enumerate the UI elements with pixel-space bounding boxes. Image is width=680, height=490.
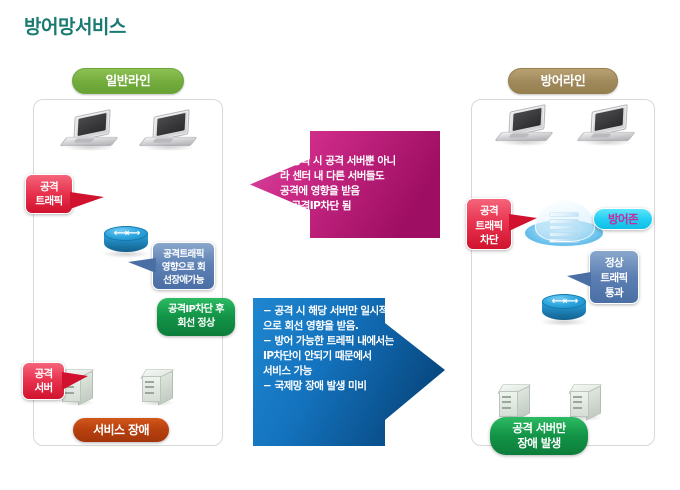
laptop-icon xyxy=(580,108,632,144)
callout-line-failure-possible[interactable]: 공격트래픽 영향으로 회 선장애가능 xyxy=(152,242,215,290)
callout-attack-traffic[interactable]: 공격 트래픽 xyxy=(25,174,73,214)
callout-attack-traffic-blocked[interactable]: 공격 트래픽 차단 xyxy=(466,198,512,250)
header-pill-defense-line[interactable]: 방어라인 xyxy=(508,68,618,94)
server-icon xyxy=(140,368,174,404)
callout-tail-attack-traffic xyxy=(70,192,104,209)
callout-attack-server[interactable]: 공격 서버 xyxy=(22,362,65,400)
status-pill-service-failure[interactable]: 서비스 장애 xyxy=(73,418,169,442)
page-title: 방어망서비스 xyxy=(24,12,126,39)
callout-tail-line-failure xyxy=(128,258,156,273)
diagram-canvas: 방어망서비스 xyxy=(0,0,680,490)
router-icon: ⟷⟷ xyxy=(542,294,586,324)
laptop-icon xyxy=(498,108,550,144)
router-arrows-glyph: ⟷⟷ xyxy=(542,294,586,309)
callout-tail-attack-blocked xyxy=(509,214,537,231)
laptop-icon xyxy=(63,113,115,149)
status-pill-attack-server-only[interactable]: 공격 서버만 장애 발생 xyxy=(490,417,588,455)
header-pill-normal-line[interactable]: 일반라인 xyxy=(72,68,184,94)
callout-normal-traffic-pass[interactable]: 정상 트래픽 통과 xyxy=(589,250,639,304)
callout-tail-attack-server xyxy=(62,372,88,390)
magenta-arrow-text: − 공격 시 공격 서버뿐 아니 라 센터 내 다른 서버들도 공격에 영향을 … xyxy=(280,154,438,214)
server-icon xyxy=(568,383,602,419)
blue-right-arrow: − 공격 시 해당 서버만 일시적 으로 회선 영향을 받음. − 방어 가능한… xyxy=(253,298,445,446)
callout-defense-zone[interactable]: 방어존 xyxy=(593,208,653,230)
router-icon: ⟷⟷ xyxy=(104,226,148,256)
router-arrows-glyph: ⟷⟷ xyxy=(104,226,148,241)
laptop-icon xyxy=(142,113,194,149)
callout-tail-normal-traffic xyxy=(567,272,591,287)
blue-arrow-text: − 공격 시 해당 서버만 일시적 으로 회선 영향을 받음. − 방어 가능한… xyxy=(263,304,403,394)
callout-after-ip-block[interactable]: 공격IP차단 후 회선 정상 xyxy=(157,298,235,336)
magenta-left-arrow: − 공격 시 공격 서버뿐 아니 라 센터 내 다른 서버들도 공격에 영향을 … xyxy=(250,131,440,238)
server-icon xyxy=(497,383,531,419)
